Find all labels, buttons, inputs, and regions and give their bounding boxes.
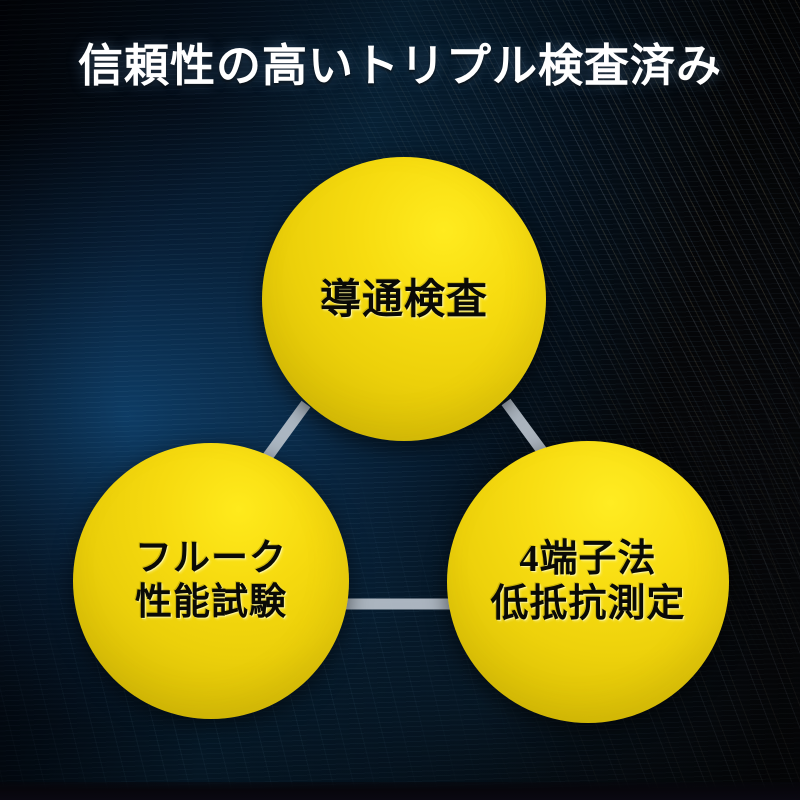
infographic-canvas: 信頼性の高いトリプル検査済み 導通検査 フルーク 性能試験 4端子法 低抵抗測定: [0, 0, 800, 800]
node-label-four-terminal-low-resistance: 4端子法 低抵抗測定: [480, 537, 695, 627]
page-title: 信頼性の高いトリプル検査済み: [0, 40, 800, 92]
node-four-terminal-low-resistance[interactable]: 4端子法 低抵抗測定: [447, 441, 729, 723]
background-bottom-band: [0, 782, 800, 800]
node-fluke-performance-test[interactable]: フルーク 性能試験: [73, 443, 349, 719]
node-label-continuity-test: 導通検査: [310, 275, 498, 323]
node-label-fluke-performance-test: フルーク 性能試験: [125, 537, 297, 624]
node-continuity-test[interactable]: 導通検査: [262, 157, 546, 441]
